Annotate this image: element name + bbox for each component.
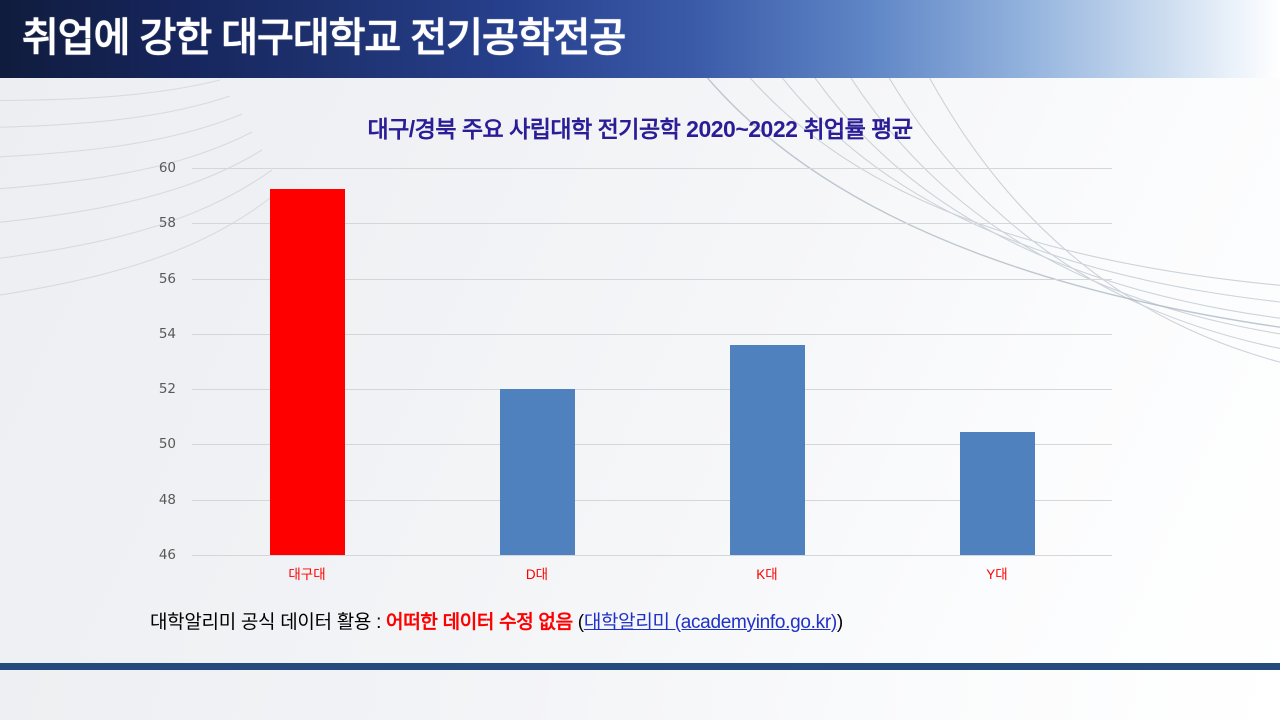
footnote-paren-close: ) <box>837 612 843 633</box>
y-axis-tick-label: 54 <box>159 326 176 342</box>
page-title: 취업에 강한 대구대학교 전기공학전공 <box>22 8 625 68</box>
footnote-paren-open: ( <box>573 612 584 633</box>
y-axis-tick-label: 58 <box>159 215 176 231</box>
gridline <box>192 168 1112 169</box>
gridline <box>192 555 1112 556</box>
x-axis-tick-label: 대구대 <box>288 563 325 583</box>
x-axis-tick-label: K대 <box>756 563 777 583</box>
chart-title: 대구/경북 주요 사립대학 전기공학 2020~2022 취업률 평균 <box>0 110 1280 144</box>
bar-D대 <box>500 389 575 555</box>
slide-header-band: 취업에 강한 대구대학교 전기공학전공 <box>0 0 1280 78</box>
y-axis-tick-label: 50 <box>159 436 176 452</box>
x-axis-labels: 대구대D대K대Y대 <box>192 563 1112 589</box>
bar-대구대 <box>270 189 345 555</box>
y-axis-tick-label: 56 <box>159 271 176 287</box>
bottom-rule <box>0 663 1280 670</box>
footnote-lead: 대학알리미 공식 데이터 활용 : <box>150 612 386 633</box>
source-footnote: 대학알리미 공식 데이터 활용 : 어떠한 데이터 수정 없음 (대학알리미 (… <box>150 607 843 634</box>
academyinfo-link[interactable]: 대학알리미 (academyinfo.go.kr) <box>584 612 837 633</box>
bar-Y대 <box>960 432 1035 555</box>
y-axis-labels: 6058565452504846 <box>0 168 185 555</box>
bottom-strip <box>0 670 1280 720</box>
y-axis-tick-label: 48 <box>159 492 176 508</box>
y-axis-tick-label: 52 <box>159 381 176 397</box>
slide-canvas: 취업에 강한 대구대학교 전기공학전공 대구/경북 주요 사립대학 전기공학 2… <box>0 0 1280 720</box>
y-axis-tick-label: 46 <box>159 547 176 563</box>
chart-container: 대구/경북 주요 사립대학 전기공학 2020~2022 취업률 평균 6058… <box>0 78 1280 650</box>
bar-K대 <box>730 345 805 555</box>
x-axis-tick-label: D대 <box>526 563 548 583</box>
footnote-emphasis: 어떠한 데이터 수정 없음 <box>386 612 573 633</box>
plot-area <box>192 168 1112 555</box>
x-axis-tick-label: Y대 <box>986 563 1007 583</box>
y-axis-tick-label: 60 <box>159 160 176 176</box>
